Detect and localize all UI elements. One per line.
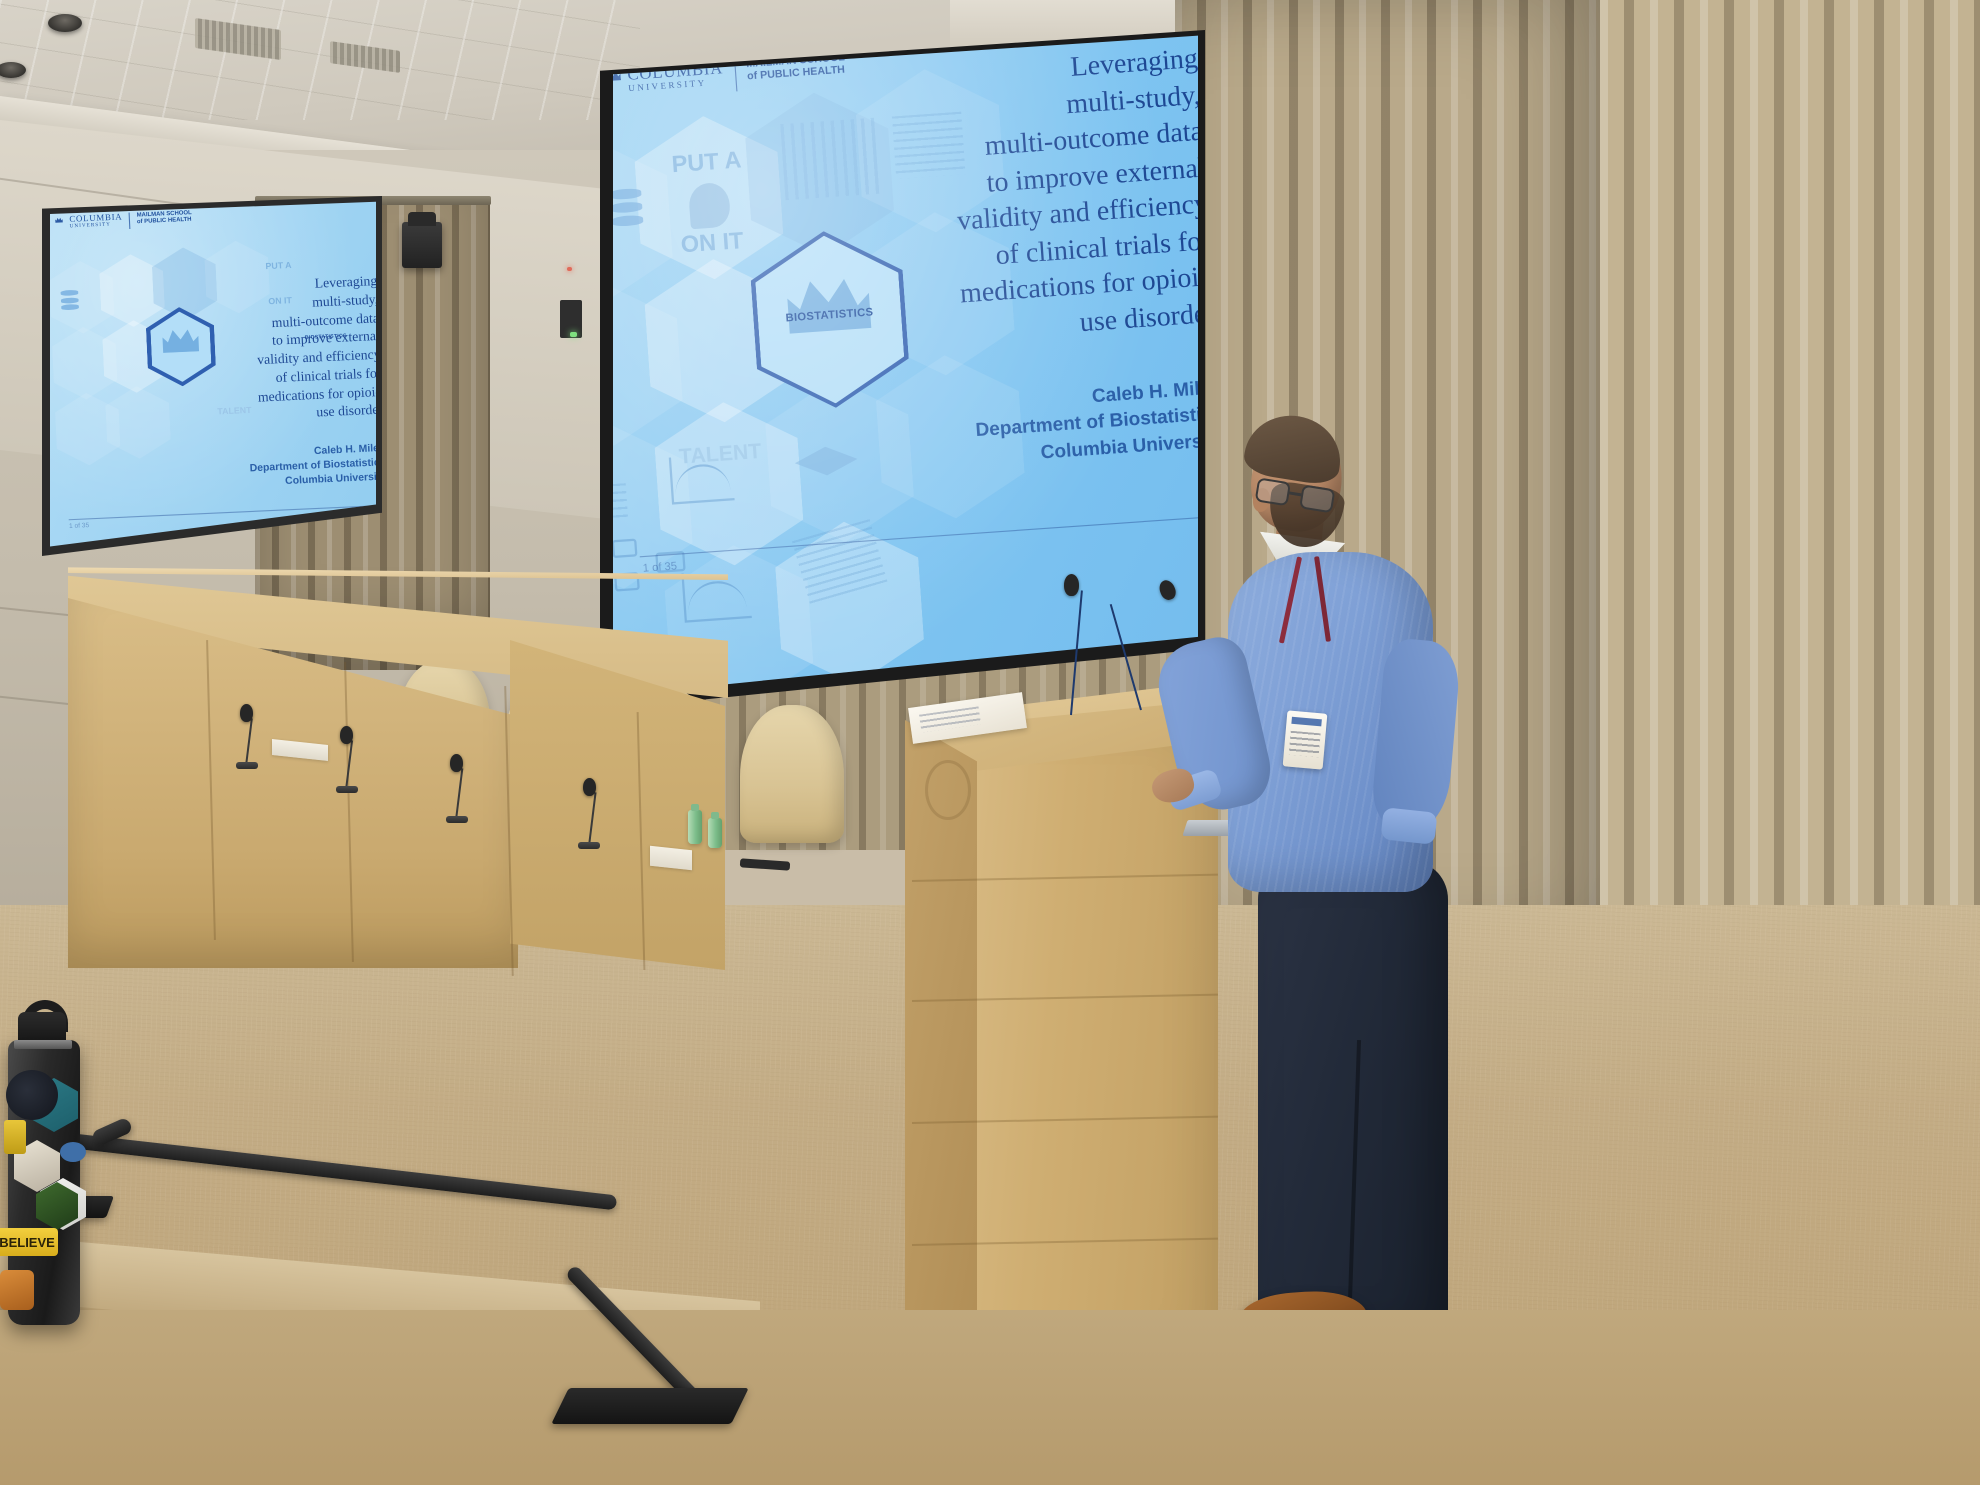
secondary-projection-screen: COLUMBIA UNIVERSITY MAILMAN SCHOOL of PU… (50, 200, 376, 550)
table-water-bottle[interactable] (688, 810, 702, 844)
slide-number: 1 of 35 (642, 560, 677, 575)
flowchart-icon (613, 539, 637, 559)
handrail-floor-plate (551, 1388, 749, 1424)
panel-chair[interactable] (740, 705, 844, 843)
person-cuff-right (1380, 807, 1437, 844)
panel-microphone (245, 718, 247, 766)
bottle-sticker-yellow-small (4, 1120, 26, 1154)
status-led-green-icon (570, 332, 577, 337)
slide-title: Leveraging multi-study, multi-outcome da… (893, 41, 1198, 353)
brand-university: UNIVERSITY (70, 222, 123, 230)
columbia-logo-small: COLUMBIA UNIVERSITY MAILMAN SCHOOL of PU… (55, 210, 192, 233)
panel-microphone (588, 792, 590, 846)
downlight-icon (48, 14, 82, 32)
bottle-sticker-dark (6, 1070, 58, 1120)
handwriting-icon (613, 483, 628, 524)
podium-microphone (1140, 600, 1142, 710)
microphone-base (336, 786, 358, 793)
database-icon (613, 188, 644, 227)
main-projection-screen: BIOSTATISTICS PUT A ON IT TALENT (613, 33, 1198, 701)
slide-author-small: Caleb H. Miles Department of Biostatisti… (202, 441, 376, 492)
slide-number-small: 1 of 35 (69, 523, 89, 531)
logo-divider (129, 213, 131, 230)
bottle-collar-ring (14, 1040, 72, 1049)
status-led-red-icon (567, 267, 572, 271)
ceiling-tile-grid (0, 0, 640, 120)
slide-title-small: Leveraging multi-study, multi-outcome da… (194, 272, 376, 428)
presentation-remote[interactable] (740, 858, 791, 870)
database-icon (61, 290, 79, 311)
bottle-sticker-believe: BELIEVE (0, 1228, 58, 1256)
lectern-emblem-icon (925, 760, 971, 820)
podium-microphone (1070, 590, 1072, 715)
curve-plot-icon (669, 453, 735, 504)
bar-chart-icon (780, 118, 879, 201)
microphone-base (578, 842, 600, 849)
lectern-side-panel (905, 720, 977, 1410)
lecture-hall-photo: COLUMBIA UNIVERSITY MAILMAN SCHOOL of PU… (0, 0, 1980, 1485)
lower-floor (0, 1310, 1980, 1485)
table-water-bottle[interactable] (708, 818, 722, 848)
microphone-base (446, 816, 468, 823)
table-name-card (650, 846, 692, 870)
brand-school-2: of PUBLIC HEALTH (137, 216, 192, 225)
microphone-base (236, 762, 258, 769)
columbia-crown-icon (55, 217, 63, 225)
far-right-curtain (1600, 0, 1980, 1010)
bottle-sticker-orange (0, 1270, 34, 1310)
panel-microphone (455, 768, 457, 820)
panel-microphone (345, 740, 347, 790)
ceiling-speaker-icon (402, 222, 442, 268)
bottle-sticker-round (60, 1142, 86, 1162)
conference-badge (1283, 710, 1328, 769)
